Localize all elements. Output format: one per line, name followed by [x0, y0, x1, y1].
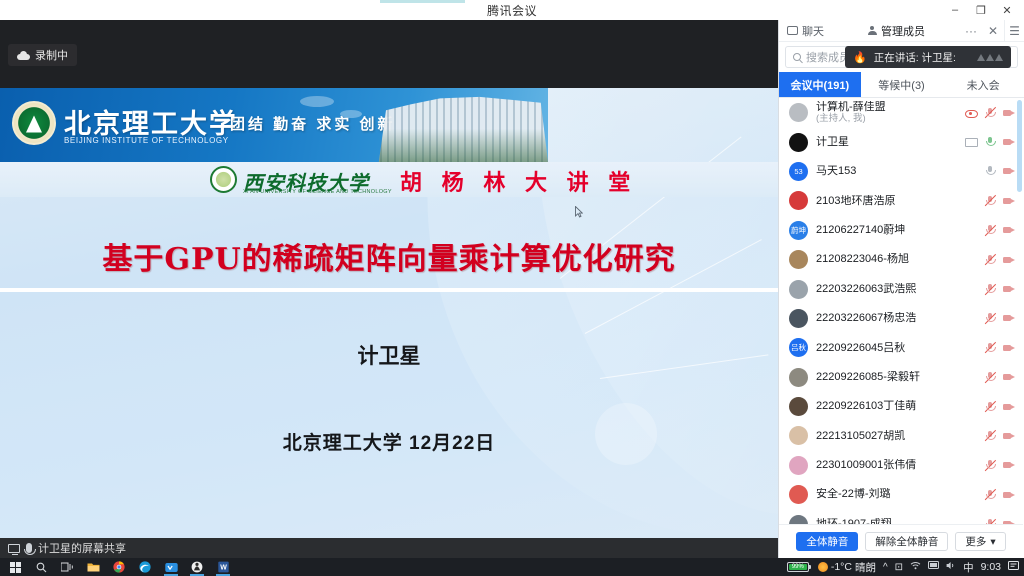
- bit-emblem-icon: [12, 101, 56, 145]
- svg-text:W: W: [220, 565, 227, 572]
- chevron-down-icon: ▾: [990, 536, 995, 548]
- avatar: [789, 309, 808, 328]
- participant-row[interactable]: 22203226067杨忠浩: [779, 304, 1023, 333]
- more-button-label: 更多: [965, 534, 986, 549]
- lecture-series-title: 胡 杨 林 大 讲 堂: [400, 165, 636, 197]
- xaust-sub-banner: 西安科技大学 XI'AN UNIVERSITY OF SCIENCE AND T…: [0, 162, 778, 197]
- avatar: [789, 250, 808, 269]
- mic-muted-icon[interactable]: [984, 430, 996, 442]
- participant-name: 22301009001张伟倩: [816, 459, 976, 472]
- window-title-bar: 腾讯会议 – ❐ ✕: [0, 0, 1024, 20]
- banner-cloud-1: [300, 96, 334, 107]
- mic-muted-icon[interactable]: [984, 254, 996, 266]
- participant-row[interactable]: 计算机-薛佳盟(主持人, 我): [779, 98, 1023, 127]
- tab-chat-label: 聊天: [802, 23, 824, 39]
- camera-off-icon[interactable]: [1003, 430, 1015, 442]
- avatar: [789, 485, 808, 504]
- participant-name: 22213105027胡凯: [816, 430, 976, 443]
- mic-muted-icon[interactable]: [984, 107, 996, 119]
- audio-wave-icon: [977, 54, 1003, 61]
- slide-title-divider: [0, 288, 778, 292]
- mic-muted-icon[interactable]: [984, 459, 996, 471]
- mic-grey-icon[interactable]: [984, 165, 996, 177]
- participant-actions: [984, 195, 1015, 207]
- avatar: [789, 368, 808, 387]
- participants-panel: 聊天 管理成员 ··· ✕ ☰ 搜索成员 🔥 正在讲话: 计卫星: 会议中(19…: [778, 20, 1024, 558]
- screen-share-status-bar: 计卫星的屏幕共享: [0, 538, 778, 558]
- camera-off-icon[interactable]: [1003, 254, 1015, 266]
- chevron-up-icon[interactable]: ^: [883, 562, 888, 573]
- taskbar-clock[interactable]: 9:03: [981, 561, 1001, 573]
- weather-widget[interactable]: -1°C 晴朗: [818, 560, 876, 575]
- windows-start-icon[interactable]: [2, 558, 28, 576]
- xaust-name-en: XI'AN UNIVERSITY OF SCIENCE AND TECHNOLO…: [243, 189, 392, 195]
- unmute-all-button[interactable]: 解除全体静音: [865, 532, 948, 551]
- tab-manage-members-label: 管理成员: [881, 23, 925, 39]
- bit-name-en: BEIJING INSTITUTE OF TECHNOLOGY: [64, 136, 229, 145]
- window-controls: – ❐ ✕: [942, 0, 1020, 20]
- participant-actions: [984, 430, 1015, 442]
- windows-taskbar: W 99% -1°C 晴朗 ^ ⊡ 中 9:03: [0, 558, 1024, 576]
- avatar: [789, 426, 808, 445]
- tab-chat[interactable]: 聊天: [779, 20, 832, 42]
- word-icon[interactable]: W: [210, 558, 236, 576]
- mouse-cursor-icon: [575, 206, 583, 218]
- camera-off-icon[interactable]: [1003, 312, 1015, 324]
- participant-tabs: 会议中(191) 等候中(3) 未入会: [779, 72, 1024, 98]
- camera-off-icon[interactable]: [1003, 165, 1015, 177]
- slide-title: 基于GPU的稀疏矩阵向量乘计算优化研究: [0, 234, 778, 278]
- taskbar-tray: 99% -1°C 晴朗 ^ ⊡ 中 9:03: [787, 560, 1024, 575]
- mic-muted-icon[interactable]: [984, 195, 996, 207]
- campus-building-photo: [368, 88, 548, 162]
- camera-off-icon[interactable]: [1003, 195, 1015, 207]
- maximize-button[interactable]: ❐: [968, 0, 994, 20]
- speaking-flame-icon: 🔥: [853, 51, 867, 64]
- recording-label: 录制中: [35, 47, 68, 63]
- participant-actions: [984, 254, 1015, 266]
- participant-row[interactable]: 2103地环唐浩原: [779, 186, 1023, 215]
- avatar: [789, 103, 808, 122]
- participant-actions: [984, 283, 1015, 295]
- participant-name: 21206227140蔚坤: [816, 224, 976, 237]
- mic-muted-icon[interactable]: [984, 489, 996, 501]
- camera-off-icon[interactable]: [1003, 401, 1015, 413]
- participant-name: 安全-22博-刘璐: [816, 488, 976, 501]
- participant-role: (主持人, 我): [816, 114, 957, 125]
- participant-name: 22203226063武浩熙: [816, 283, 976, 296]
- participant-actions: [984, 312, 1015, 324]
- participant-name: 计卫星: [816, 136, 957, 149]
- microphone-icon: [26, 543, 32, 553]
- hidden-icons-icon[interactable]: ⊡: [895, 562, 903, 573]
- screen-share-label: 计卫星的屏幕共享: [38, 540, 126, 556]
- recording-badge: 录制中: [8, 44, 77, 66]
- speaking-indicator-banner: 🔥 正在讲话: 计卫星:: [845, 46, 1011, 68]
- panel-header: 聊天 管理成员 ··· ✕ ☰: [779, 20, 1024, 42]
- close-panel-icon[interactable]: ✕: [982, 20, 1004, 42]
- participant-actions: [965, 107, 1015, 119]
- participant-name: 22203226067杨忠浩: [816, 312, 976, 325]
- minimize-button[interactable]: –: [942, 0, 968, 20]
- file-explorer-icon[interactable]: [80, 558, 106, 576]
- participant-row[interactable]: 安全-22博-刘璐: [779, 480, 1023, 509]
- participant-actions: [984, 489, 1015, 501]
- weather-desc: 晴朗: [855, 560, 876, 575]
- chat-bubble-icon: [787, 26, 798, 35]
- tab-not-joined[interactable]: 未入会: [942, 72, 1024, 97]
- participant-name: 21208223046-杨旭: [816, 253, 976, 266]
- participant-name: 2103地环唐浩原: [816, 195, 976, 208]
- record-icon[interactable]: [965, 107, 977, 119]
- app-dark-icon[interactable]: [184, 558, 210, 576]
- camera-off-icon[interactable]: [1003, 371, 1015, 383]
- camera-off-icon[interactable]: [1003, 136, 1015, 148]
- avatar: 53: [789, 162, 808, 181]
- avatar: 吕秋: [789, 338, 808, 357]
- sun-icon: [818, 562, 828, 572]
- xaust-emblem-icon: [210, 166, 237, 193]
- display-icon[interactable]: [928, 561, 939, 573]
- tab-waiting[interactable]: 等候中(3): [861, 72, 943, 97]
- more-button[interactable]: 更多 ▾: [955, 532, 1005, 551]
- mic-muted-icon[interactable]: [984, 371, 996, 383]
- tencent-meeting-icon[interactable]: [158, 558, 184, 576]
- notification-icon[interactable]: [1008, 561, 1019, 574]
- mic-muted-icon[interactable]: [984, 401, 996, 413]
- chrome-icon[interactable]: [106, 558, 132, 576]
- search-icon: [793, 53, 801, 61]
- weather-temp: -1°C: [831, 561, 852, 573]
- close-button[interactable]: ✕: [994, 0, 1020, 20]
- screen-share-icon: [8, 544, 20, 553]
- mic-on-icon[interactable]: [984, 136, 996, 148]
- participant-name: 计算机-薛佳盟(主持人, 我): [816, 101, 957, 125]
- shared-screen-stage: 录制中 北京理工大学 BEIJING INSTITUTE OF TECHNOLO…: [0, 20, 778, 538]
- participant-actions: [984, 371, 1015, 383]
- cloud-icon: [17, 51, 30, 60]
- avatar: [789, 456, 808, 475]
- participant-row[interactable]: 蔚坤21206227140蔚坤: [779, 216, 1023, 245]
- avatar: [789, 133, 808, 152]
- participant-row[interactable]: 计卫星: [779, 127, 1023, 156]
- taskbar-search-icon[interactable]: [28, 558, 54, 576]
- search-row: 搜索成员 🔥 正在讲话: 计卫星:: [779, 42, 1024, 72]
- participant-actions: [965, 136, 1015, 148]
- participant-row[interactable]: 吕秋22209226045吕秋: [779, 333, 1023, 362]
- mic-muted-icon[interactable]: [984, 342, 996, 354]
- participant-list-scrollbar[interactable]: [1017, 100, 1022, 192]
- task-view-icon[interactable]: [54, 558, 80, 576]
- person-icon: [867, 26, 877, 36]
- mic-muted-icon[interactable]: [984, 224, 996, 236]
- mic-muted-icon[interactable]: [984, 312, 996, 324]
- battery-icon[interactable]: 99%: [787, 562, 811, 572]
- window-title: 腾讯会议: [0, 0, 1024, 20]
- slide-affiliation-date: 北京理工大学 12月22日: [0, 428, 778, 455]
- bit-university-banner: 北京理工大学 BEIJING INSTITUTE OF TECHNOLOGY 团…: [0, 88, 548, 162]
- avatar: [789, 191, 808, 210]
- participant-actions: [984, 401, 1015, 413]
- participant-row[interactable]: 22213105027胡凯: [779, 421, 1023, 450]
- speaking-label: 正在讲话: 计卫星:: [874, 50, 956, 65]
- participant-row[interactable]: 53马天153: [779, 157, 1023, 186]
- speaker-icon[interactable]: [946, 561, 956, 573]
- camera-off-icon[interactable]: [1003, 459, 1015, 471]
- participant-row[interactable]: 22203226063武浩熙: [779, 274, 1023, 303]
- participant-row[interactable]: 21208223046-杨旭: [779, 245, 1023, 274]
- wifi-icon[interactable]: [910, 561, 921, 573]
- participant-name: 22209226045吕秋: [816, 342, 976, 355]
- participant-row[interactable]: 22209226103丁佳萌: [779, 392, 1023, 421]
- participant-actions: [984, 165, 1015, 177]
- more-options-icon[interactable]: ···: [960, 20, 982, 42]
- participant-actions: [984, 459, 1015, 471]
- taskbar-apps: W: [0, 558, 236, 576]
- participant-list[interactable]: 计算机-薛佳盟(主持人, 我)计卫星53马天1532103地环唐浩原蔚坤2120…: [779, 98, 1023, 540]
- share-screen-icon[interactable]: [965, 136, 977, 148]
- participant-name: 22209226085-梁毅轩: [816, 371, 976, 384]
- camera-off-icon[interactable]: [1003, 342, 1015, 354]
- panel-list-icon[interactable]: ☰: [1004, 20, 1024, 42]
- camera-off-icon[interactable]: [1003, 283, 1015, 295]
- avatar: [789, 280, 808, 299]
- participant-row[interactable]: 22209226085-梁毅轩: [779, 363, 1023, 392]
- mic-muted-icon[interactable]: [984, 283, 996, 295]
- participant-name: 马天153: [816, 165, 976, 178]
- panel-footer: 全体静音 解除全体静音 更多 ▾: [779, 524, 1023, 558]
- search-placeholder: 搜索成员: [806, 49, 850, 65]
- edge-icon[interactable]: [132, 558, 158, 576]
- avatar: 蔚坤: [789, 221, 808, 240]
- presentation-slide: 北京理工大学 BEIJING INSTITUTE OF TECHNOLOGY 团…: [0, 88, 778, 538]
- camera-off-icon[interactable]: [1003, 489, 1015, 501]
- tab-manage-members[interactable]: 管理成员: [859, 20, 933, 42]
- mute-all-button[interactable]: 全体静音: [796, 532, 858, 551]
- slide-presenter-name: 计卫星: [0, 340, 778, 370]
- participant-name: 22209226103丁佳萌: [816, 400, 976, 413]
- battery-percent: 99%: [789, 564, 807, 570]
- ime-indicator[interactable]: 中: [963, 560, 974, 575]
- participant-row[interactable]: 22301009001张伟倩: [779, 451, 1023, 480]
- avatar: [789, 397, 808, 416]
- participant-actions: [984, 342, 1015, 354]
- tab-in-meeting[interactable]: 会议中(191): [779, 72, 861, 97]
- camera-off-icon[interactable]: [1003, 107, 1015, 119]
- bit-motto: 团结 勤奋 求实 创新: [230, 113, 396, 134]
- participant-actions: [984, 224, 1015, 236]
- camera-off-icon[interactable]: [1003, 224, 1015, 236]
